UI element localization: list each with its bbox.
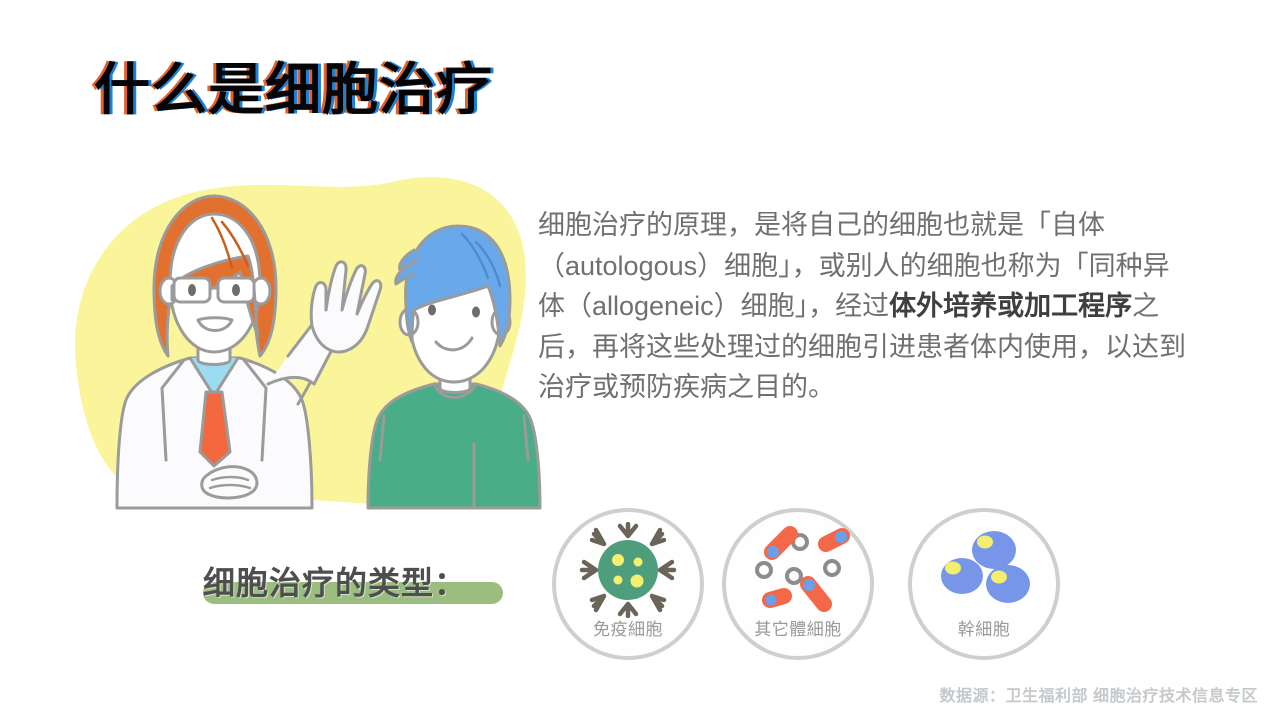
cell-type-immune[interactable]: 免疫細胞 — [552, 508, 704, 660]
body-segment-bold: 体外培养或加工程序 — [889, 291, 1132, 321]
somatic-cell-icon — [726, 522, 870, 618]
cell-therapy-illustration — [62, 160, 542, 510]
stem-cell-icon — [912, 522, 1056, 618]
body-paragraph: 细胞治疗的原理，是将自己的细胞也就是「自体（autologous）细胞」，或别人… — [538, 205, 1190, 408]
page-title-text: 什么是细胞治疗 — [94, 54, 493, 126]
slide-canvas: 什么是细胞治疗 什么是细胞治疗 什么是细胞治疗 — [0, 0, 1280, 720]
cell-type-stem[interactable]: 幹細胞 — [908, 508, 1060, 660]
types-label-text: 细胞治疗的类型： — [203, 558, 467, 604]
cell-type-caption: 免疫細胞 — [556, 615, 700, 640]
doctor-figure — [117, 196, 381, 508]
cell-type-caption: 其它體細胞 — [726, 615, 870, 640]
immune-cell-icon — [556, 522, 700, 618]
page-title: 什么是细胞治疗 什么是细胞治疗 什么是细胞治疗 — [94, 54, 694, 134]
cell-type-somatic[interactable]: 其它體細胞 — [722, 508, 874, 660]
patient-figure — [368, 226, 540, 508]
cell-type-caption: 幹細胞 — [912, 615, 1056, 640]
types-label: 细胞治疗的类型： — [203, 556, 467, 606]
footer-source: 数据源：卫生福利部 细胞治疗技术信息专区 — [940, 682, 1258, 706]
